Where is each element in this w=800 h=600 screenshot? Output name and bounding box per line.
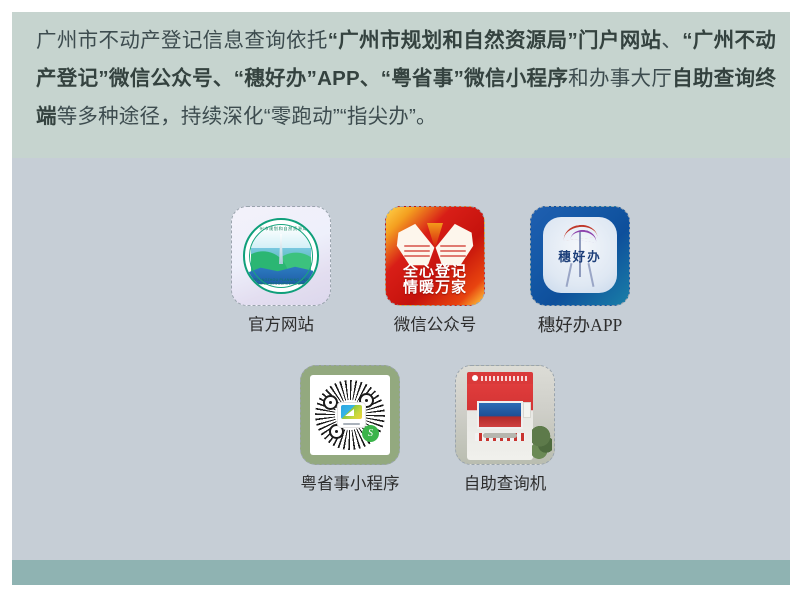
emblem-ring-text-top: 广州市规划和自然资源局 <box>245 227 317 231</box>
caption-wechat-official-account: 微信公众号 <box>394 316 477 334</box>
hand-left-fingers <box>404 245 430 263</box>
emblem-ring-text-bottom: GUANGZHOU PLANNING AND NATURAL RESOURCES… <box>245 279 317 286</box>
qr-eye-top-left <box>323 395 338 410</box>
gz-planning-bureau-emblem-icon: 广州市规划和自然资源局 GUANGZHOU PLANNING AND NATUR… <box>243 218 319 294</box>
official-website-thumbnail[interactable]: 广州市规划和自然资源局 GUANGZHOU PLANNING AND NATUR… <box>231 206 331 306</box>
channel-tile-yueshengshi-miniprogram[interactable]: S 粤省事小程序 <box>300 365 400 493</box>
channel-tile-official-website[interactable]: 广州市规划和自然资源局 GUANGZHOU PLANNING AND NATUR… <box>231 206 331 334</box>
wechat-slogan-line1: 全心登记 <box>386 264 484 280</box>
clasped-hands-heart-icon <box>398 223 472 267</box>
channel-tile-self-service-kiosk[interactable]: 自助查询机 <box>455 365 555 493</box>
footer-stripe <box>12 560 790 585</box>
hand-right-fingers <box>440 245 466 263</box>
kiosk-display-screen <box>477 401 523 429</box>
header-paragraph: 广州市不动产登记信息查询依托“广州市规划和自然资源局”门户网站、“广州不动产登记… <box>36 22 776 136</box>
potted-plant-decoration <box>532 426 552 460</box>
emblem-greenland <box>253 267 309 280</box>
header-segment-0: 广州市不动产登记信息查询依托 <box>36 29 328 52</box>
kiosk-header-panel <box>467 372 533 384</box>
caption-suihaoban-app: 穗好办APP <box>538 316 623 335</box>
kiosk-machine-photo <box>467 372 533 460</box>
self-service-kiosk-thumbnail[interactable] <box>455 365 555 465</box>
kiosk-side-panel <box>523 402 531 418</box>
qr-center-logo <box>337 402 366 428</box>
kiosk-document-slot <box>483 433 517 438</box>
channel-tile-wechat-official-account[interactable]: 全心登记 情暖万家 微信公众号 <box>385 206 485 334</box>
tower-legs <box>565 263 595 287</box>
wechat-slogan-line2: 情暖万家 <box>386 280 484 296</box>
header-banner: 广州市不动产登记信息查询依托“广州市规划和自然资源局”门户网站、“广州不动产登记… <box>12 12 790 158</box>
wechat-slogan: 全心登记 情暖万家 <box>386 264 484 296</box>
channel-tile-suihaoban-app[interactable]: 穗好办 穗好办APP <box>530 206 630 335</box>
suihaoban-app-icon: 穗好办 <box>543 217 617 293</box>
suihaoban-app-thumbnail[interactable]: 穗好办 <box>530 206 630 306</box>
caption-self-service-kiosk: 自助查询机 <box>464 475 547 493</box>
caption-yueshengshi-miniprogram: 粤省事小程序 <box>301 475 400 493</box>
wechat-miniprogram-badge-icon: S <box>362 425 379 442</box>
yueshengshi-qr-thumbnail[interactable]: S <box>300 365 400 465</box>
header-segment-6: 等多种途径，持续深化“零跑动”“指尖办”。 <box>57 105 437 128</box>
header-segment-1: “广州市规划和自然资源局”门户网站 <box>328 29 662 52</box>
kiosk-cabinet <box>467 384 533 460</box>
header-segment-2: 、 <box>661 29 682 52</box>
kiosk-header-text <box>481 376 529 381</box>
emblem-hills <box>251 248 311 272</box>
caption-official-website: 官方网站 <box>248 316 314 334</box>
suihaoban-wordmark: 穗好办 <box>543 246 617 265</box>
qr-logo-base <box>343 423 360 425</box>
qr-logo-screen <box>341 405 362 419</box>
header-segment-4: 和办事大厅 <box>568 67 672 90</box>
channel-icon-grid: 广州市规划和自然资源局 GUANGZHOU PLANNING AND NATUR… <box>12 158 790 560</box>
qr-code-icon: S <box>310 375 390 455</box>
content-panel: 广州市规划和自然资源局 GUANGZHOU PLANNING AND NATUR… <box>12 158 790 560</box>
slide-canvas: 广州市不动产登记信息查询依托“广州市规划和自然资源局”门户网站、“广州不动产登记… <box>0 0 800 600</box>
wechat-account-thumbnail[interactable]: 全心登记 情暖万家 <box>385 206 485 306</box>
emblem-canton-tower <box>279 234 283 264</box>
